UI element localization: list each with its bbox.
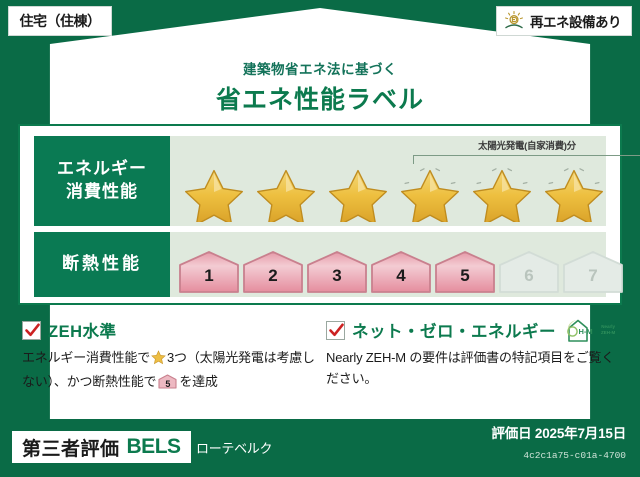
- building-type-chip: 住宅（住棟）: [8, 6, 112, 36]
- zeh-description: エネルギー消費性能で3つ（太陽光発電は考慮しない）、かつ断熱性能で5を達成: [22, 347, 318, 392]
- insulation-level-2: 2: [242, 250, 304, 294]
- nze-description: Nearly ZEH-M の要件は評価書の特記項目をご覧ください。: [326, 347, 622, 389]
- insulation-level-5: 5: [434, 250, 496, 294]
- nearly-zeh-m-logo: H-M Nearly ZEH-M: [565, 317, 615, 343]
- bels-badge: 第三者評価 BELS: [12, 431, 191, 463]
- performance-box: エネルギー 消費性能 太陽光発電(自家消費)分: [18, 124, 622, 305]
- insulation-level-1: 1: [178, 250, 240, 294]
- label-subtitle: 建築物省エネ法に基づく: [0, 58, 640, 78]
- insulation-level-value: 4: [370, 266, 432, 286]
- evaluation-date: 評価日 2025年7月15日: [491, 422, 626, 442]
- insulation-level-value: 6: [498, 266, 560, 286]
- zeh-logo-caption-1: Nearly: [601, 324, 615, 329]
- insulation-level-value: 5: [434, 266, 496, 286]
- inline-house-value: 5: [158, 377, 177, 392]
- zeh-title: ZEH水準: [48, 318, 117, 342]
- star-4-solar: [394, 162, 466, 222]
- zeh-body-post: を達成: [179, 374, 217, 389]
- insulation-performance-row: 断熱性能 1: [20, 232, 620, 297]
- insulation-level-value: 3: [306, 266, 368, 286]
- zeh-body-pre: エネルギー消費性能で: [22, 350, 150, 365]
- zeh-house-icon: H-M: [565, 317, 599, 343]
- zeh-checkbox: [22, 321, 41, 340]
- star-6-solar: [538, 162, 610, 222]
- insulation-level-4: 4: [370, 250, 432, 294]
- criterion-zeh: ZEH水準 エネルギー消費性能で3つ（太陽光発電は考慮しない）、かつ断熱性能で5…: [22, 318, 318, 392]
- insulation-level-value: 7: [562, 266, 624, 286]
- nze-title: ネット・ゼロ・エネルギー: [352, 318, 556, 342]
- renewable-equipment-badge: 再エネ設備あり: [496, 6, 632, 36]
- star-3: [322, 162, 394, 222]
- energy-stars-area: 太陽光発電(自家消費)分: [170, 136, 606, 226]
- zeh-logo-caption: Nearly ZEH-M: [601, 324, 615, 335]
- energy-label-line1: エネルギー: [57, 158, 147, 181]
- insulation-level-3: 3: [306, 250, 368, 294]
- solar-bracket-label: 太陽光発電(自家消費)分: [413, 138, 640, 152]
- building-type-label: 住宅（住棟）: [20, 11, 101, 31]
- energy-label-root: 住宅（住棟） 再エネ設備あり 建築物省エネ法に基づく 省エネ性能ラベル: [0, 0, 640, 477]
- energy-label-line2: 消費性能: [66, 181, 138, 204]
- insulation-level-7: 7: [562, 250, 624, 294]
- insulation-scale-area: 1 2: [170, 232, 606, 297]
- energy-star-rating: [170, 162, 606, 222]
- energy-performance-label: エネルギー 消費性能: [34, 136, 170, 226]
- criterion-net-zero-energy: ネット・ゼロ・エネルギー H-M Nearly ZEH-M Nearly ZEH…: [326, 318, 622, 389]
- insulation-label-text: 断熱性能: [62, 253, 142, 276]
- bels-en-label: BELS: [127, 435, 181, 459]
- builder-name: ローテベルク: [196, 438, 272, 457]
- star-icon-inline: [151, 350, 166, 371]
- insulation-level-value: 2: [242, 266, 304, 286]
- bels-jp-label: 第三者評価: [22, 434, 120, 461]
- star-5-solar: [466, 162, 538, 222]
- criterion-nze-header: ネット・ゼロ・エネルギー H-M Nearly ZEH-M: [326, 318, 622, 342]
- solar-sun-icon: [503, 10, 525, 32]
- insulation-level-6: 6: [498, 250, 560, 294]
- page-title: 省エネ性能ラベル: [0, 80, 640, 116]
- zeh-logo-caption-2: ZEH-M: [601, 330, 615, 335]
- energy-performance-row: エネルギー 消費性能 太陽光発電(自家消費)分: [20, 136, 620, 226]
- star-2: [250, 162, 322, 222]
- insulation-level-value: 1: [178, 266, 240, 286]
- svg-text:H-M: H-M: [579, 327, 593, 336]
- criterion-zeh-header: ZEH水準: [22, 318, 318, 342]
- star-1: [178, 162, 250, 222]
- house-icon-inline: 5: [158, 374, 177, 389]
- nze-checkbox: [326, 321, 345, 340]
- insulation-performance-label: 断熱性能: [34, 232, 170, 297]
- renewable-badge-label: 再エネ設備あり: [530, 11, 621, 31]
- insulation-level-scale: 1 2: [178, 250, 624, 294]
- evaluation-id: 4c2c1a75-c01a-4700: [523, 450, 626, 461]
